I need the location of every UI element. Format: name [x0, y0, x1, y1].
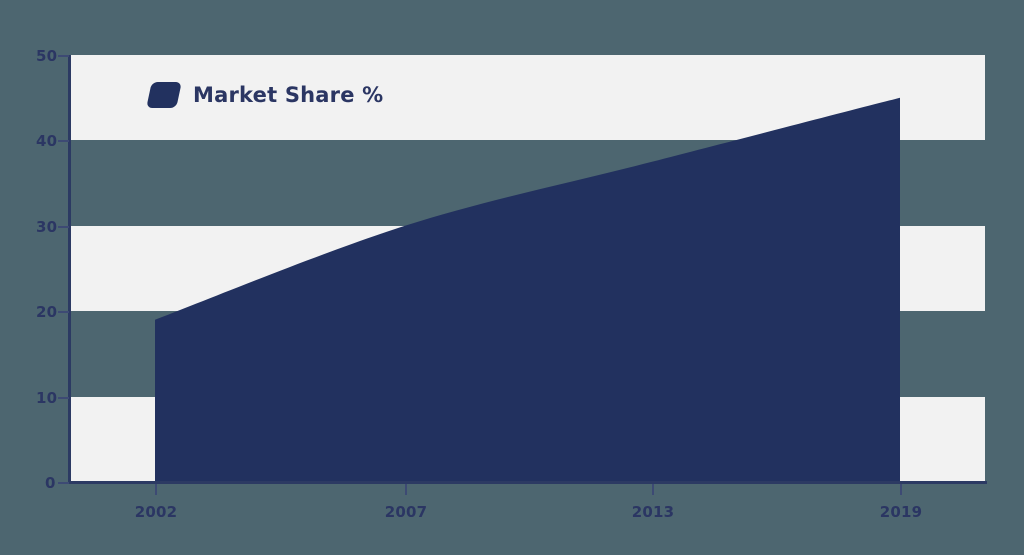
- x-tick-2007: [405, 484, 407, 495]
- x-axis-line: [68, 481, 987, 484]
- x-tick-label-2013: 2013: [632, 503, 675, 521]
- y-tick-label-10: 10: [36, 389, 57, 407]
- x-tick-label-2002: 2002: [135, 503, 178, 521]
- y-tick-50: [58, 55, 69, 57]
- y-tick-20: [58, 311, 69, 313]
- x-tick-label-2007: 2007: [385, 503, 428, 521]
- chart-legend[interactable]: Market Share %: [149, 82, 383, 108]
- y-tick-30: [58, 226, 69, 228]
- y-tick-label-0: 0: [45, 474, 56, 492]
- y-tick-label-30: 30: [36, 218, 57, 236]
- y-tick-40: [58, 140, 69, 142]
- series-market-share: [70, 55, 985, 482]
- y-tick-label-20: 20: [36, 303, 57, 321]
- x-tick-2019: [900, 484, 902, 495]
- x-tick-2013: [652, 484, 654, 495]
- y-axis-line: [68, 55, 71, 483]
- area-chart: 50 40 30 20 10 0 2002 2007 2013 2019 Mar…: [0, 0, 1024, 555]
- y-tick-10: [58, 397, 69, 399]
- area-path: [155, 98, 900, 482]
- y-tick-0: [58, 482, 69, 484]
- legend-label: Market Share %: [193, 83, 383, 107]
- legend-swatch-icon: [146, 82, 182, 108]
- x-tick-2002: [155, 484, 157, 495]
- x-tick-label-2019: 2019: [880, 503, 923, 521]
- y-tick-label-50: 50: [36, 47, 57, 65]
- y-tick-label-40: 40: [36, 132, 57, 150]
